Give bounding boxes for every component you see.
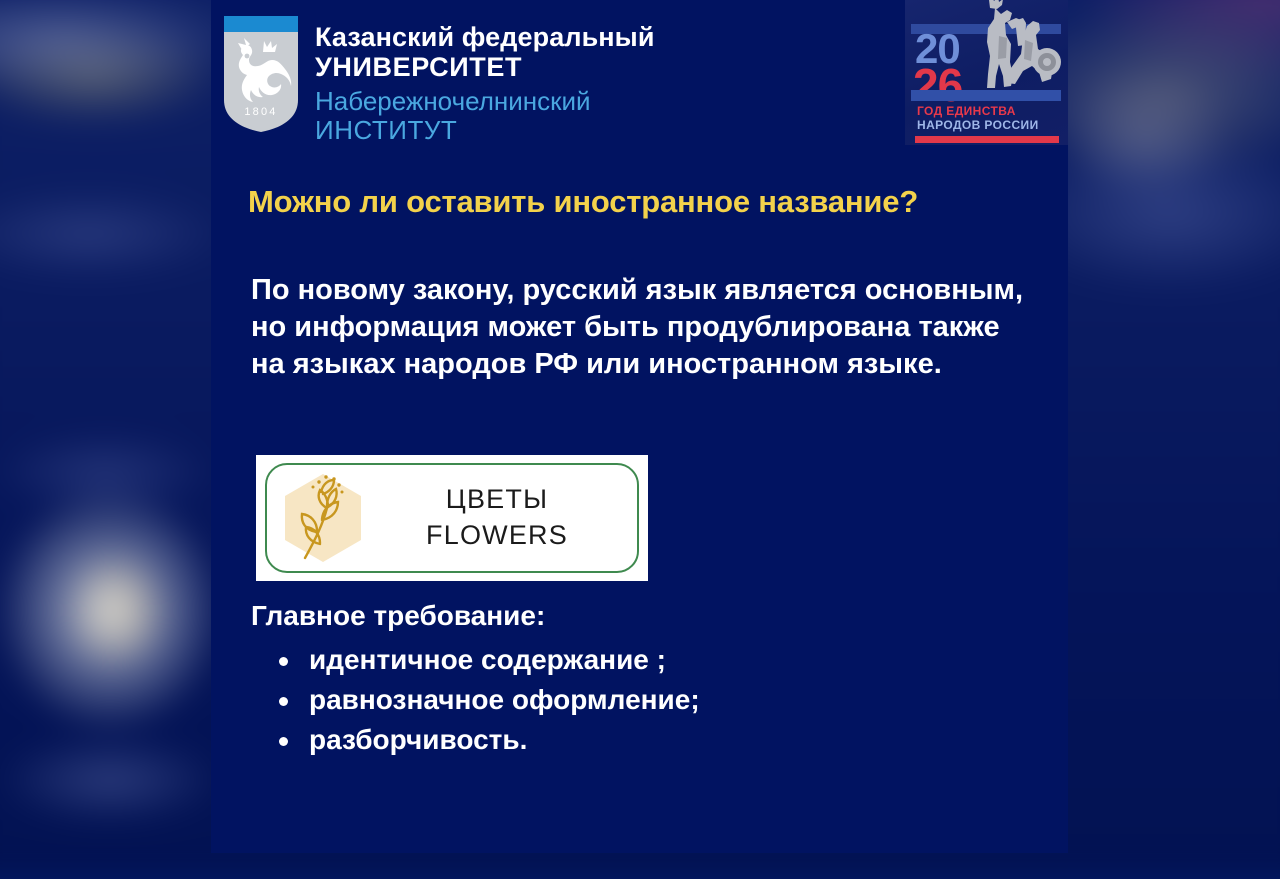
logo-line-2: УНИВЕРСИТЕТ xyxy=(315,52,655,82)
sign-text-en: FLOWERS xyxy=(371,518,623,554)
kfu-shield-icon: 1804 xyxy=(222,14,300,134)
requirements-list: идентичное содержание ; равнозначное офо… xyxy=(267,640,700,759)
shield-year-text: 1804 xyxy=(244,106,277,118)
bullet-icon xyxy=(279,737,288,746)
logo-line-4: ИНСТИТУТ xyxy=(315,116,655,145)
list-item-label: равнозначное оформление; xyxy=(309,684,700,715)
sign-text-ru: ЦВЕТЫ xyxy=(371,482,623,518)
logo-line-3: Набережночелнинский xyxy=(315,87,655,116)
flower-hexagon-icon xyxy=(275,468,371,568)
slide-title: Можно ли оставить иностранное название? xyxy=(248,184,1048,220)
kfu-logo: 1804 Казанский федеральный УНИВЕРСИТЕТ Н… xyxy=(222,14,655,145)
emblem-line-1: ГОД ЕДИНСТВА xyxy=(917,104,1016,118)
slide-body-text: По новому закону, русский язык является … xyxy=(251,272,1041,383)
logo-line-1: Казанский федеральный xyxy=(315,22,655,52)
list-item-label: идентичное содержание ; xyxy=(309,644,666,675)
requirements-heading: Главное требование: xyxy=(251,600,545,632)
emblem-bar-mid xyxy=(911,90,1061,101)
year-2026-emblem: 20 26 ГОД ЕДИНСТВА НАРОДОВ РОССИИ xyxy=(905,0,1068,145)
sign-inner-frame: ЦВЕТЫ FLOWERS xyxy=(265,463,639,573)
list-item: разборчивость. xyxy=(267,720,700,760)
slide-panel: 1804 Казанский федеральный УНИВЕРСИТЕТ Н… xyxy=(211,0,1068,853)
list-item: равнозначное оформление; xyxy=(267,680,700,720)
emblem-line-2: НАРОДОВ РОССИИ xyxy=(917,118,1039,132)
list-item-label: разборчивость. xyxy=(309,724,527,755)
list-item: идентичное содержание ; xyxy=(267,640,700,680)
emblem-bar-bottom xyxy=(915,136,1059,143)
bullet-icon xyxy=(279,657,288,666)
sign-text-block: ЦВЕТЫ FLOWERS xyxy=(371,482,637,553)
minin-pozharsky-statue-icon xyxy=(955,0,1067,104)
bullet-icon xyxy=(279,697,288,706)
bilingual-sign-example: ЦВЕТЫ FLOWERS xyxy=(256,455,648,581)
